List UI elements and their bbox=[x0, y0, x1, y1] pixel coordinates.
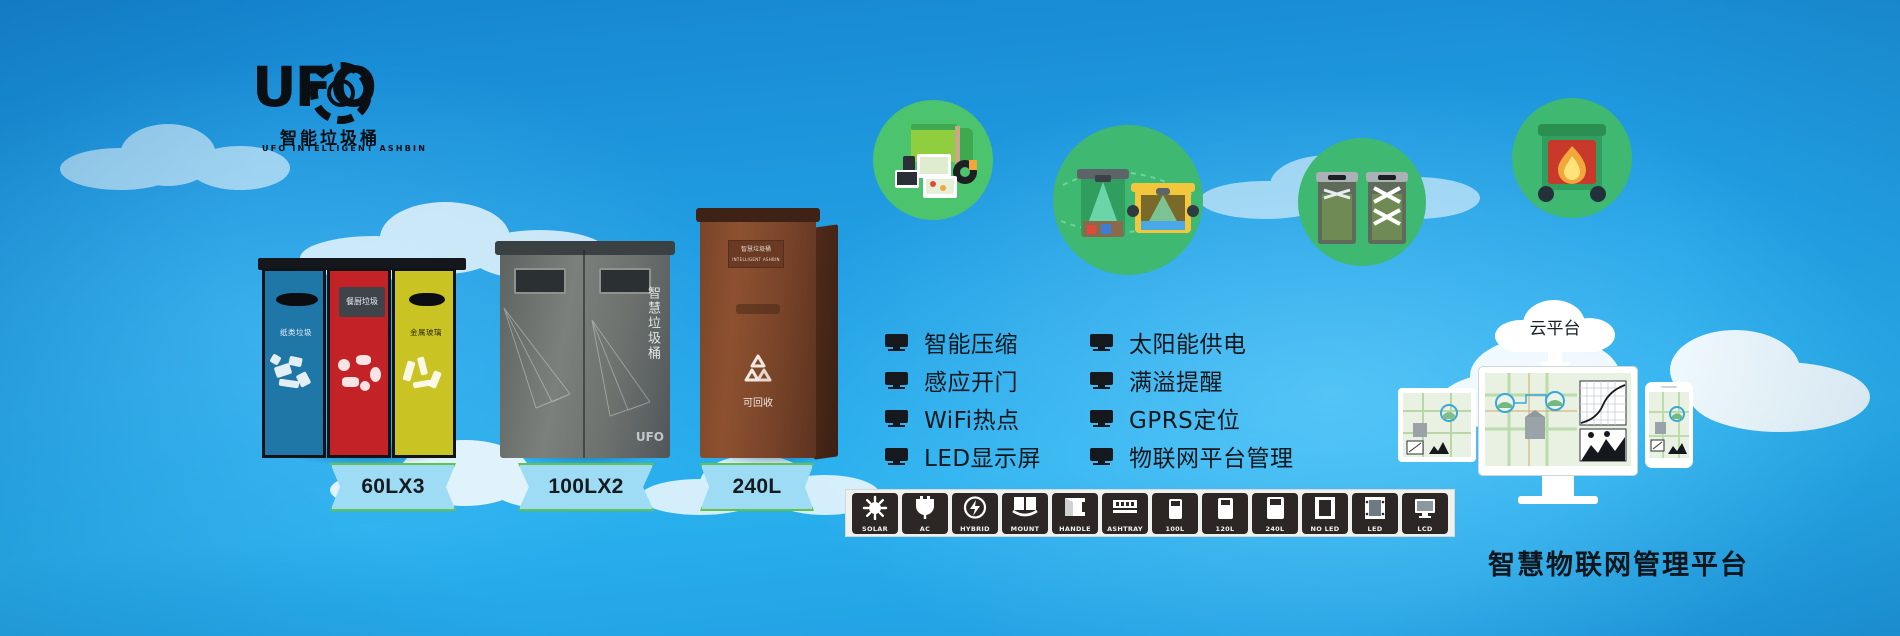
tablet-screen bbox=[1403, 393, 1471, 457]
spec-label-solar: SOLAR bbox=[852, 525, 898, 533]
garbage-truck-icon bbox=[873, 100, 993, 220]
cloud-platform-tag: 云平台 bbox=[1495, 298, 1615, 352]
bin-120l-icon bbox=[1202, 495, 1248, 520]
bin-double-side-text: 智慧垃圾桶 bbox=[646, 286, 662, 361]
lcd-icon bbox=[1402, 495, 1448, 520]
bin-100l-icon bbox=[1152, 495, 1198, 520]
monitor-bullet-icon bbox=[885, 448, 908, 465]
badge-text-240l: 240L bbox=[732, 475, 781, 499]
feature-label-1: 感应开门 bbox=[924, 363, 1018, 397]
phone-map-chart bbox=[1649, 392, 1689, 458]
bin-single-display-text: 智慧垃圾桶 bbox=[729, 241, 783, 254]
monitor-bullet-icon bbox=[885, 334, 908, 351]
compactor-bins-icon bbox=[1298, 138, 1426, 266]
bin-single-display: 智慧垃圾桶 INTELLIGENT ASHBIN bbox=[728, 240, 784, 268]
spec-chip-ac[interactable]: AC bbox=[902, 493, 948, 534]
spec-label-120l: 120L bbox=[1202, 525, 1248, 533]
spec-label-handle: HANDLE bbox=[1052, 525, 1098, 533]
feature-label-4: 太阳能供电 bbox=[1129, 325, 1247, 359]
desktop-screen bbox=[1485, 373, 1631, 466]
bin-single-recycle-label: 可回收 bbox=[720, 394, 796, 409]
hybrid-lightning-icon bbox=[952, 495, 998, 520]
handle-icon bbox=[1052, 495, 1098, 520]
bin-compartment-metal-glass: 金属玻璃 bbox=[392, 268, 456, 458]
bin-240l-icon bbox=[1252, 495, 1298, 520]
monitor-bullet-icon bbox=[1090, 410, 1113, 427]
spec-chip-hybrid[interactable]: HYBRID bbox=[952, 493, 998, 534]
spec-chip-led[interactable]: LED bbox=[1352, 493, 1398, 534]
spec-label-mount: MOUNT bbox=[1002, 525, 1048, 533]
fill-sensor-icon bbox=[1053, 125, 1203, 275]
badge-capacity-240l: 240L bbox=[700, 463, 814, 511]
feature-item-2: WiFi热点 bbox=[885, 401, 1020, 435]
spec-label-hybrid: HYBRID bbox=[952, 525, 998, 533]
platform-device-desktop[interactable] bbox=[1478, 366, 1638, 476]
bin-slot-paper bbox=[276, 293, 318, 306]
spec-chip-handle[interactable]: HANDLE bbox=[1052, 493, 1098, 534]
power-plug-icon bbox=[902, 495, 948, 520]
bin-single-side bbox=[814, 224, 838, 459]
fill-level-sensor-circle bbox=[1053, 125, 1203, 275]
compaction-circle bbox=[1298, 138, 1426, 266]
brand-logo: UFO 智能垃圾桶 UFO INTELLIGENT ASHBIN bbox=[252, 58, 378, 158]
bin-single-display-sub: INTELLIGENT ASHBIN bbox=[729, 254, 783, 264]
spec-label-ashtray: ASHTRAY bbox=[1102, 525, 1148, 533]
metal-glass-icon bbox=[395, 347, 453, 461]
feature-label-6: GPRS定位 bbox=[1129, 401, 1240, 435]
feature-label-5: 满溢提醒 bbox=[1129, 363, 1223, 397]
spec-chip-240l[interactable]: 240L bbox=[1252, 493, 1298, 534]
bin-plate-food: 餐厨垃圾 bbox=[339, 287, 385, 317]
logo-english-name: UFO INTELLIGENT ASHBIN bbox=[262, 144, 402, 153]
cloud-platform-label: 云平台 bbox=[1495, 314, 1615, 339]
spec-icon-strip: SOLAR AC HYBRID MOUNT bbox=[845, 489, 1455, 537]
feature-item-5: 满溢提醒 bbox=[1090, 363, 1223, 397]
bin-double-window-left bbox=[514, 268, 566, 294]
spec-label-no-led: NO LED bbox=[1302, 525, 1348, 533]
spec-label-led: LED bbox=[1352, 525, 1398, 533]
monitor-bullet-icon bbox=[1090, 372, 1113, 389]
feature-item-6: GPRS定位 bbox=[1090, 401, 1240, 435]
feature-item-7: 物联网平台管理 bbox=[1090, 439, 1294, 473]
tablet-map-chart bbox=[1403, 393, 1471, 457]
feature-label-3: LED显示屏 bbox=[924, 439, 1041, 473]
paper-waste-icon bbox=[265, 347, 323, 461]
spec-label-ac: AC bbox=[902, 525, 948, 533]
monitor-bullet-icon bbox=[1090, 448, 1113, 465]
phone-speaker bbox=[1661, 386, 1677, 388]
desktop-stand-base bbox=[1518, 496, 1598, 504]
bin-label-food: 餐厨垃圾 bbox=[339, 287, 385, 317]
bin-label-paper: 纸类垃圾 bbox=[268, 327, 324, 338]
monitor-bullet-icon bbox=[885, 372, 908, 389]
spec-chip-mount[interactable]: MOUNT bbox=[1002, 493, 1048, 534]
bin-single-slot bbox=[736, 304, 780, 314]
fire-detection-icon bbox=[1512, 98, 1632, 218]
recycle-icon bbox=[738, 350, 778, 390]
bin-slot-metal-glass bbox=[409, 293, 445, 306]
feature-item-0: 智能压缩 bbox=[885, 325, 1018, 359]
feature-label-2: WiFi热点 bbox=[924, 401, 1020, 435]
bin-compartment-food: 餐厨垃圾 bbox=[327, 268, 391, 458]
bin-single-lid bbox=[696, 208, 820, 222]
spec-chip-no-led[interactable]: NO LED bbox=[1302, 493, 1348, 534]
spec-label-lcd: LCD bbox=[1402, 525, 1448, 533]
banner-stage: UFO 智能垃圾桶 UFO INTELLIGENT ASHBIN 纸类垃圾 餐厨… bbox=[0, 0, 1900, 636]
collection-truck-circle bbox=[873, 100, 993, 220]
spec-chip-120l[interactable]: 120L bbox=[1202, 493, 1248, 534]
product-bin-double[interactable]: 智慧垃圾桶 UFO bbox=[500, 250, 670, 458]
product-bin-triple[interactable]: 纸类垃圾 餐厨垃圾 金属玻璃 bbox=[262, 268, 462, 458]
wall-mount-icon bbox=[1002, 495, 1048, 520]
platform-device-tablet[interactable] bbox=[1398, 388, 1476, 462]
fire-alarm-circle bbox=[1512, 98, 1632, 218]
product-bin-single[interactable]: 智慧垃圾桶 INTELLIGENT ASHBIN 可回收 bbox=[700, 218, 816, 458]
bin-label-metal-glass: 金属玻璃 bbox=[398, 327, 454, 338]
spec-chip-lcd[interactable]: LCD bbox=[1402, 493, 1448, 534]
spec-chip-ashtray[interactable]: ASHTRAY bbox=[1102, 493, 1148, 534]
badge-capacity-60lx3: 60LX3 bbox=[330, 463, 456, 511]
platform-title: 智慧物联网管理平台 bbox=[1488, 543, 1749, 582]
spec-chip-100l[interactable]: 100L bbox=[1152, 493, 1198, 534]
badge-text-100lx2: 100LX2 bbox=[548, 475, 623, 499]
feature-item-4: 太阳能供电 bbox=[1090, 325, 1247, 359]
spec-label-240l: 240L bbox=[1252, 525, 1298, 533]
bin-double-brandmark: UFO bbox=[636, 430, 664, 444]
monitor-bullet-icon bbox=[1090, 334, 1113, 351]
led-icon bbox=[1352, 495, 1398, 520]
spec-chip-solar[interactable]: SOLAR bbox=[852, 493, 898, 534]
badge-text-60lx3: 60LX3 bbox=[361, 475, 424, 499]
feature-item-3: LED显示屏 bbox=[885, 439, 1041, 473]
platform-device-phone[interactable] bbox=[1645, 382, 1693, 468]
no-led-icon bbox=[1302, 495, 1348, 520]
spec-label-100l: 100L bbox=[1152, 525, 1198, 533]
feature-label-0: 智能压缩 bbox=[924, 325, 1018, 359]
ashtray-icon bbox=[1102, 495, 1148, 520]
bin-compartment-paper: 纸类垃圾 bbox=[262, 268, 326, 458]
food-waste-icon bbox=[330, 347, 388, 461]
sun-icon bbox=[852, 495, 898, 520]
monitor-bullet-icon bbox=[885, 410, 908, 427]
desktop-dashboard bbox=[1485, 373, 1631, 466]
ufo-ring-icon bbox=[310, 62, 372, 124]
badge-capacity-100lx2: 100LX2 bbox=[518, 463, 654, 511]
phone-screen bbox=[1649, 392, 1689, 458]
feature-item-1: 感应开门 bbox=[885, 363, 1018, 397]
desktop-stand-neck bbox=[1542, 476, 1574, 498]
feature-label-7: 物联网平台管理 bbox=[1129, 439, 1294, 473]
